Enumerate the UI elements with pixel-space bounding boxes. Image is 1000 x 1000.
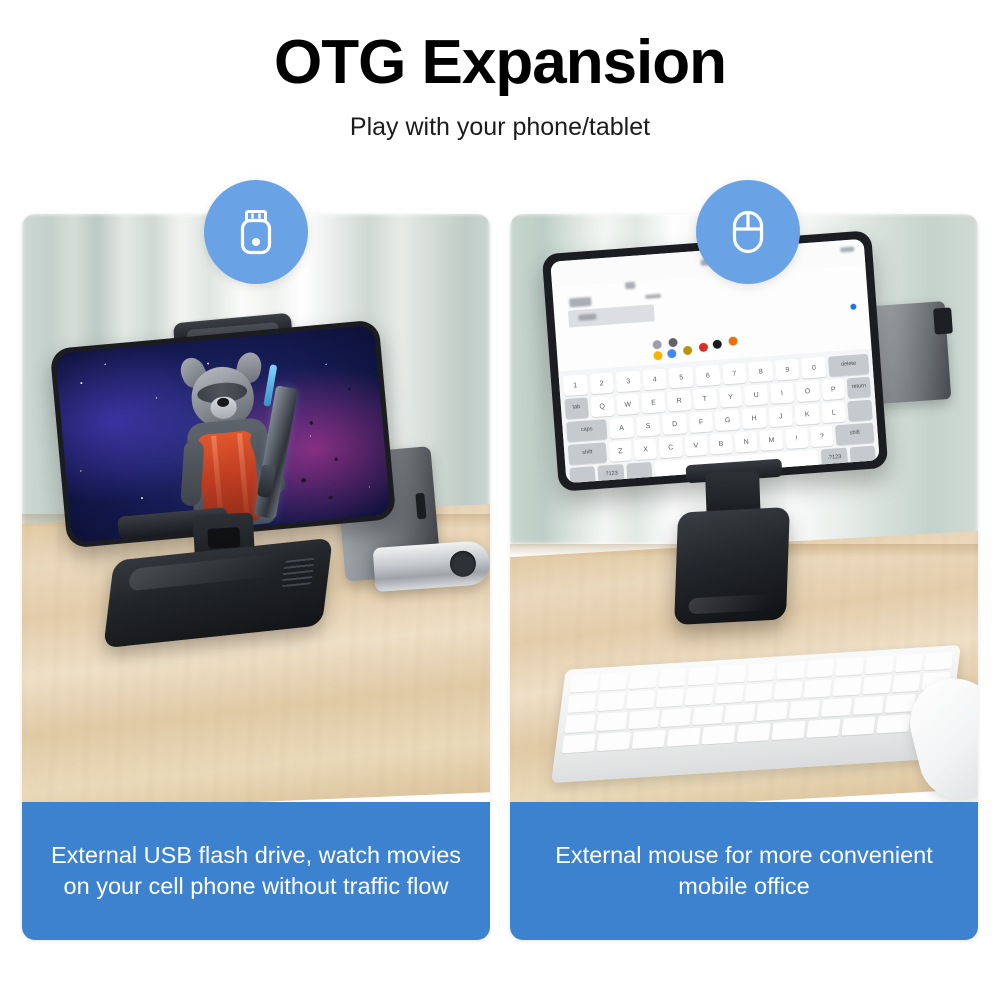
keyboard-key bbox=[717, 665, 746, 684]
camera-icon bbox=[652, 340, 662, 350]
key-enter[interactable] bbox=[848, 400, 873, 422]
status-indicator-text bbox=[840, 247, 854, 253]
tablet-stand-base bbox=[674, 507, 790, 625]
keyboard-key bbox=[628, 710, 659, 729]
settings-icon bbox=[668, 338, 678, 348]
keyboard-key bbox=[562, 734, 596, 753]
keyboard-key bbox=[685, 687, 714, 706]
key-tab[interactable]: tab bbox=[564, 397, 588, 419]
tablet-screen: 1 2 3 4 5 6 7 8 9 0 delete tab Q bbox=[550, 239, 879, 483]
keyboard-key bbox=[863, 675, 892, 694]
keyboard-key bbox=[821, 698, 852, 717]
key-question[interactable]: ? bbox=[810, 426, 834, 448]
app-icon-blue bbox=[667, 349, 677, 359]
stand-base-highlight bbox=[128, 553, 280, 591]
feature-card-usb-flash-drive: External USB flash drive, watch movies o… bbox=[22, 214, 490, 940]
app-icon-orange bbox=[728, 336, 738, 346]
keyboard-key bbox=[924, 652, 953, 671]
key-5[interactable]: 5 bbox=[669, 367, 694, 389]
key-h[interactable]: H bbox=[742, 407, 767, 429]
keyboard-key bbox=[564, 714, 595, 733]
app-icon-dark bbox=[712, 339, 722, 349]
key-1[interactable]: 1 bbox=[563, 374, 588, 396]
keyboard-key bbox=[658, 668, 687, 687]
keyboard-key bbox=[865, 655, 894, 674]
app-icon-yellow bbox=[653, 351, 663, 361]
badge-external-mouse bbox=[696, 180, 800, 284]
key-4[interactable]: 4 bbox=[642, 369, 667, 391]
otg-adapter-connector bbox=[933, 307, 953, 334]
key-b[interactable]: B bbox=[709, 433, 733, 455]
keyboard-key bbox=[599, 672, 628, 691]
caption-text: External mouse for more convenient mobil… bbox=[536, 840, 952, 903]
keyboard-key bbox=[702, 725, 736, 744]
key-shift-left[interactable]: shift bbox=[568, 442, 607, 465]
key-6[interactable]: 6 bbox=[695, 365, 720, 387]
keyboard-key bbox=[736, 723, 770, 742]
keyboard-key bbox=[774, 681, 803, 700]
key-globe[interactable] bbox=[569, 466, 596, 483]
page-header: OTG Expansion Play with your phone/table… bbox=[0, 0, 1000, 142]
key-f[interactable]: F bbox=[689, 411, 714, 433]
key-a[interactable]: A bbox=[609, 417, 634, 439]
computer-mouse-icon bbox=[720, 204, 776, 260]
key-n[interactable]: N bbox=[734, 431, 758, 453]
product-photo-usb-flash-drive bbox=[22, 214, 490, 802]
keyboard-key bbox=[597, 692, 626, 711]
keyboard-key bbox=[629, 670, 658, 689]
key-j[interactable]: J bbox=[768, 405, 793, 427]
keyboard-key bbox=[570, 674, 599, 693]
usb-flash-drive-icon bbox=[228, 204, 284, 260]
key-i[interactable]: I bbox=[770, 382, 794, 404]
key-return[interactable]: return bbox=[847, 377, 871, 399]
key-v[interactable]: V bbox=[684, 435, 708, 457]
key-p[interactable]: P bbox=[821, 379, 845, 401]
key-d[interactable]: D bbox=[662, 413, 687, 435]
keyboard-key bbox=[836, 657, 865, 676]
document-meta-text bbox=[645, 294, 661, 299]
keyboard-key bbox=[597, 732, 631, 751]
usb-flash-drive bbox=[373, 540, 490, 592]
key-delete[interactable]: delete bbox=[828, 354, 869, 377]
keyboard-key bbox=[596, 712, 627, 731]
key-m[interactable]: M bbox=[760, 429, 784, 451]
page-subtitle: Play with your phone/tablet bbox=[0, 95, 1000, 142]
keyboard-key bbox=[806, 659, 835, 678]
keyboard-key bbox=[744, 683, 773, 702]
keyboard-key bbox=[895, 653, 924, 672]
document-heading-text bbox=[569, 297, 592, 308]
keyboard-key bbox=[803, 679, 832, 698]
keyboard-key bbox=[567, 694, 596, 713]
key-r[interactable]: R bbox=[667, 390, 691, 412]
keyboard-key bbox=[688, 666, 717, 685]
cursor-handle bbox=[850, 304, 856, 310]
keyboard-key bbox=[725, 704, 756, 723]
caption-external-mouse: External mouse for more convenient mobil… bbox=[510, 802, 978, 940]
key-7[interactable]: 7 bbox=[722, 363, 747, 385]
keyboard-key bbox=[715, 685, 744, 704]
key-k[interactable]: K bbox=[795, 404, 820, 426]
key-w[interactable]: W bbox=[616, 394, 640, 416]
keyboard-key bbox=[757, 702, 788, 721]
caption-usb-flash-drive: External USB flash drive, watch movies o… bbox=[22, 802, 490, 940]
keyboard-key bbox=[806, 719, 840, 738]
key-o[interactable]: O bbox=[796, 380, 820, 402]
keyboard-key bbox=[747, 663, 776, 682]
key-c[interactable]: C bbox=[659, 437, 683, 459]
key-u[interactable]: U bbox=[744, 384, 768, 406]
keyboard-key bbox=[667, 727, 701, 746]
toolbar-icon bbox=[625, 282, 635, 290]
key-exclamation[interactable]: ! bbox=[785, 427, 809, 449]
keyboard-key bbox=[833, 677, 862, 696]
key-y[interactable]: Y bbox=[718, 386, 742, 408]
keyboard-key bbox=[876, 714, 910, 733]
key-q[interactable]: Q bbox=[590, 396, 614, 418]
raccoon-character bbox=[165, 355, 300, 533]
keyboard-key bbox=[789, 700, 820, 719]
key-caps[interactable]: caps bbox=[566, 419, 607, 442]
key-9[interactable]: 9 bbox=[775, 359, 800, 381]
keyboard-key bbox=[656, 688, 685, 707]
key-g[interactable]: G bbox=[715, 409, 740, 431]
feature-card-external-mouse: 1 2 3 4 5 6 7 8 9 0 delete tab Q bbox=[510, 214, 978, 940]
keyboard-key bbox=[661, 708, 692, 727]
keyring-hole bbox=[449, 550, 477, 578]
key-s[interactable]: S bbox=[636, 415, 661, 437]
app-icon-olive bbox=[683, 346, 693, 356]
usb-port bbox=[415, 493, 426, 520]
keyboard-key bbox=[771, 721, 805, 740]
keyboard-key bbox=[626, 690, 655, 709]
keyboard-key bbox=[853, 696, 884, 715]
key-z[interactable]: Z bbox=[608, 440, 632, 462]
keyboard-key bbox=[777, 661, 806, 680]
key-l[interactable]: L bbox=[821, 402, 846, 424]
badge-usb-flash-drive bbox=[204, 180, 308, 284]
key-0[interactable]: 0 bbox=[801, 357, 826, 379]
key-e[interactable]: E bbox=[641, 392, 665, 414]
key-t[interactable]: T bbox=[693, 388, 717, 410]
key-shift-right[interactable]: shift bbox=[835, 423, 874, 446]
key-3[interactable]: 3 bbox=[616, 371, 641, 393]
key-2[interactable]: 2 bbox=[589, 373, 614, 395]
page-title: OTG Expansion bbox=[0, 0, 1000, 95]
key-x[interactable]: X bbox=[634, 439, 658, 461]
tablet-stand-base-highlight bbox=[688, 594, 770, 614]
keyboard-key bbox=[632, 730, 666, 749]
keyboard-key bbox=[841, 717, 875, 736]
app-icon-red bbox=[699, 342, 709, 352]
key-8[interactable]: 8 bbox=[748, 361, 773, 383]
caption-text: External USB flash drive, watch movies o… bbox=[48, 840, 464, 903]
stand-grip-ridges bbox=[282, 558, 315, 588]
keyboard-key bbox=[693, 706, 724, 725]
product-photo-external-mouse: 1 2 3 4 5 6 7 8 9 0 delete tab Q bbox=[510, 214, 978, 802]
keyboard-key bbox=[892, 674, 921, 693]
